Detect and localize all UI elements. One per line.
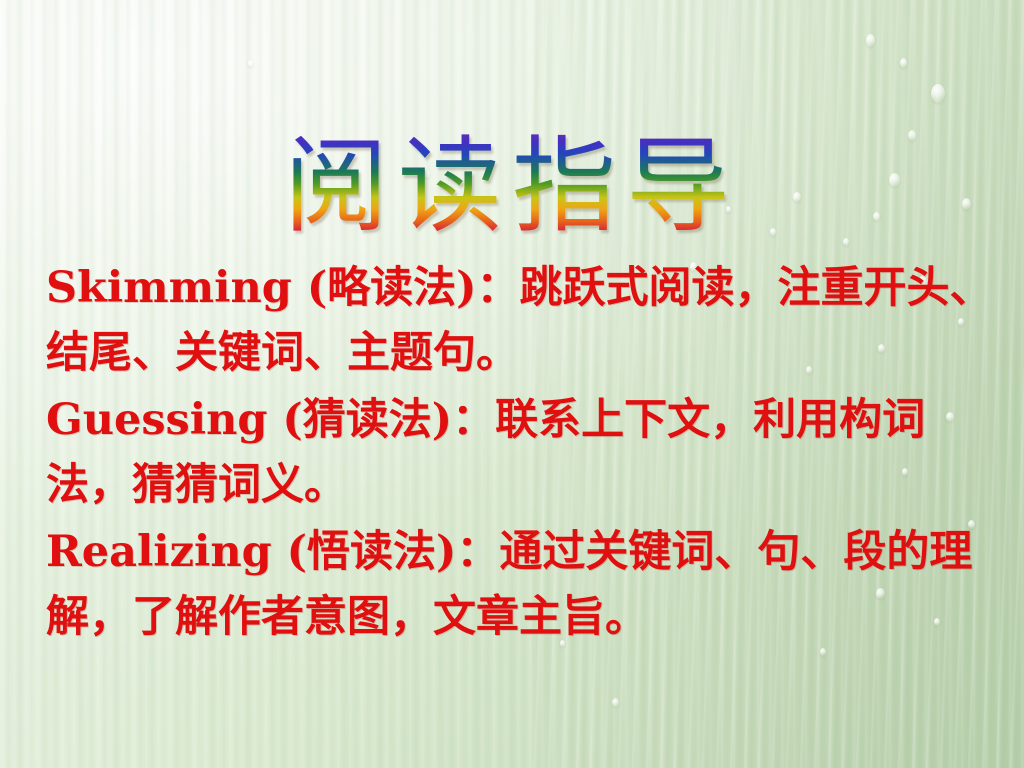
- reading-method-paragraph: Guessing (猜读法)：联系上下文，利用构词法，猜猜词义。: [46, 388, 996, 518]
- reading-method-paragraph: Skimming (略读法)：跳跃式阅读，注重开头、结尾、关键词、主题句。: [46, 256, 996, 386]
- reading-method-paragraph: Realizing (悟读法)：通过关键词、句、段的理解，了解作者意图，文章主旨…: [46, 520, 996, 650]
- water-droplet-icon: [612, 698, 619, 707]
- slide-title: 阅读指导: [284, 128, 740, 244]
- slide-canvas: 阅读指导 Skimming (略读法)：跳跃式阅读，注重开头、结尾、关键词、主题…: [0, 0, 1024, 768]
- body-text-block: Skimming (略读法)：跳跃式阅读，注重开头、结尾、关键词、主题句。 Gu…: [46, 256, 996, 652]
- water-droplet-icon: [866, 34, 875, 47]
